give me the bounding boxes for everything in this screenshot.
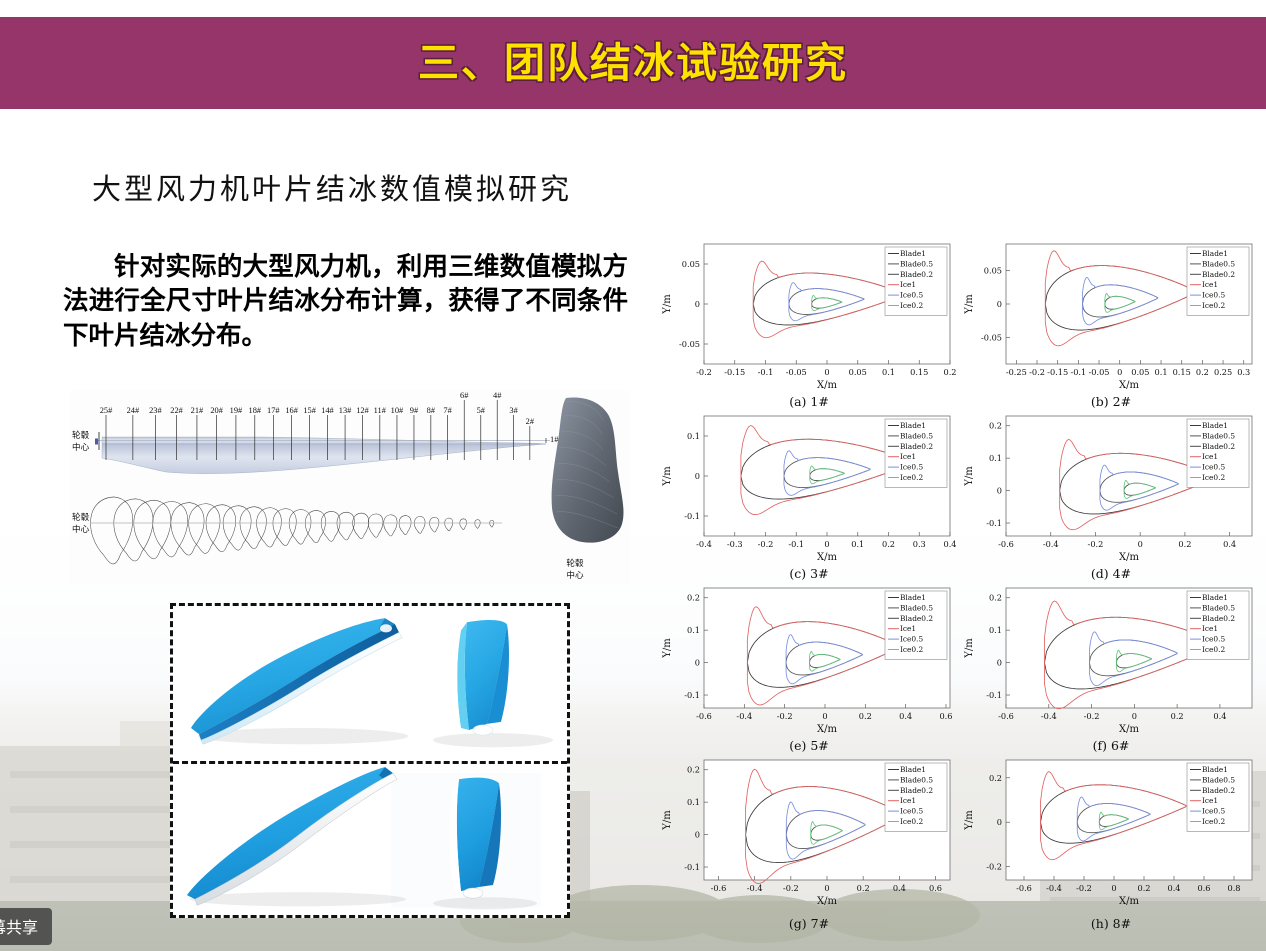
station-label: 19# <box>230 406 243 415</box>
x-tick-label: 0.6 <box>1197 883 1210 893</box>
chart-caption-h: (h) 8# <box>960 916 1262 931</box>
x-tick-label: 0 <box>822 711 827 721</box>
hub-label-mid-line2: 中心 <box>72 523 90 535</box>
airfoil-section <box>490 520 494 527</box>
y-axis-label: Y/m <box>964 466 975 487</box>
y-tick-label: 0 <box>997 486 1002 496</box>
x-tick-label: 0.6 <box>939 711 952 721</box>
station-label: 17# <box>267 406 280 415</box>
y-axis-label: Y/m <box>964 294 975 315</box>
y-axis-label: Y/m <box>662 810 673 831</box>
airfoil-section <box>353 513 369 539</box>
x-tick-label: 0.2 <box>859 711 872 721</box>
x-axis-label: X/m <box>1119 896 1139 907</box>
x-tick-label: 0.05 <box>849 367 867 377</box>
x-tick-label: -0.4 <box>736 711 752 721</box>
x-tick-label: 0.4 <box>893 883 906 893</box>
chart-f: -0.6-0.4-0.200.20.4-0.100.10.2X/mY/mBlad… <box>960 582 1262 754</box>
legend-label: Blade1 <box>900 249 926 258</box>
x-tick-label: -0.15 <box>724 367 745 377</box>
legend-label: Blade0.2 <box>900 614 933 623</box>
legend-label: Blade0.5 <box>900 431 933 440</box>
legend-label: Ice0.2 <box>1202 817 1225 826</box>
legend-label: Blade1 <box>1202 421 1228 430</box>
airfoil-section <box>445 518 453 531</box>
hub-label-right-line1: 轮毂 <box>566 557 584 569</box>
x-tick-label: -0.3 <box>727 539 743 549</box>
legend-label: Blade1 <box>900 765 926 774</box>
station-label: 18# <box>249 406 262 415</box>
chart-caption-g: (g) 7# <box>658 916 960 931</box>
x-tick-label: -0.2 <box>1084 711 1100 721</box>
hub-label-top-line1: 轮毂 <box>72 429 90 441</box>
legend-label: Ice1 <box>1202 796 1218 805</box>
station-label: 12# <box>356 406 369 415</box>
legend-label: Blade1 <box>900 593 926 602</box>
legend-label: Ice0.2 <box>900 817 923 826</box>
x-axis-label: X/m <box>1119 552 1139 563</box>
x-tick-label: -0.6 <box>998 539 1014 549</box>
x-tick-label: 0.6 <box>929 883 942 893</box>
x-tick-label: 0.8 <box>1227 883 1240 893</box>
x-tick-label: 0.15 <box>1173 367 1191 377</box>
legend-label: Ice0.2 <box>1202 473 1225 482</box>
legend-label: Ice1 <box>900 796 916 805</box>
chart-svg-b: -0.25-0.2-0.15-0.1-0.0500.050.10.150.20.… <box>960 238 1262 410</box>
legend-label: Blade0.2 <box>1202 786 1235 795</box>
x-tick-label: -0.2 <box>758 539 774 549</box>
y-tick-label: -0.1 <box>684 511 700 521</box>
x-tick-label: -0.05 <box>1089 367 1110 377</box>
slide-root: 三、团队结冰试验研究 大型风力机叶片结冰数值模拟研究 针对实际的大型风力机，利用… <box>0 0 1266 951</box>
y-axis-label: Y/m <box>662 294 673 315</box>
y-tick-label: 0.1 <box>989 453 1002 463</box>
legend-label: Ice0.2 <box>1202 645 1225 654</box>
x-tick-label: -0.6 <box>696 711 712 721</box>
chart-h: -0.6-0.4-0.200.20.40.60.8-0.200.2X/mY/mB… <box>960 754 1262 932</box>
y-tick-label: 0 <box>695 658 700 668</box>
x-tick-label: 0 <box>1132 711 1137 721</box>
legend-label: Ice1 <box>1202 280 1218 289</box>
chart-b: -0.25-0.2-0.15-0.1-0.0500.050.10.150.20.… <box>960 238 1262 410</box>
x-tick-label: -0.6 <box>998 711 1014 721</box>
y-tick-label: 0.05 <box>984 266 1002 276</box>
x-tick-label: -0.2 <box>1076 883 1092 893</box>
x-axis-label: X/m <box>817 896 837 907</box>
y-tick-label: 0.2 <box>687 593 700 603</box>
legend-label: Blade0.5 <box>1202 603 1235 612</box>
x-tick-label: -0.6 <box>1016 883 1032 893</box>
station-label: 24# <box>127 406 140 415</box>
legend-label: Blade0.2 <box>900 270 933 279</box>
x-tick-label: -0.15 <box>1047 367 1068 377</box>
y-axis-label: Y/m <box>964 810 975 831</box>
x-tick-label: 0.4 <box>1167 883 1180 893</box>
airfoil-section <box>91 497 133 564</box>
x-tick-label: 0.2 <box>1178 539 1191 549</box>
blade-render-top <box>173 606 567 761</box>
legend-label: Blade0.2 <box>900 786 933 795</box>
legend-label: Blade0.2 <box>1202 270 1235 279</box>
legend-label: Ice1 <box>900 452 916 461</box>
blade-station-diagram: 轮毂 中心 25#24#23#22#21#20#19#18#17#16#15#1… <box>70 390 630 585</box>
chart-svg-h: -0.6-0.4-0.200.20.40.60.8-0.200.2X/mY/mB… <box>960 754 1262 932</box>
chart-svg-f: -0.6-0.4-0.200.20.4-0.100.10.2X/mY/mBlad… <box>960 582 1262 754</box>
x-tick-label: -0.2 <box>696 367 712 377</box>
station-label: 22# <box>170 406 183 415</box>
x-tick-label: -0.25 <box>1006 367 1027 377</box>
airfoil-section <box>257 508 282 547</box>
x-tick-label: 0 <box>824 367 829 377</box>
airfoil-section <box>114 499 153 561</box>
blade-ice-render-panel <box>170 603 570 918</box>
station-label: 6# <box>460 391 469 400</box>
legend-label: Ice0.2 <box>900 645 923 654</box>
y-tick-label: 0.2 <box>687 765 700 775</box>
chart-caption-f: (f) 6# <box>960 738 1262 753</box>
x-tick-label: -0.4 <box>747 883 763 893</box>
x-tick-label: 0.4 <box>1223 539 1236 549</box>
station-label: 7# <box>443 406 452 415</box>
station-label: 3# <box>509 406 518 415</box>
station-label: 14# <box>321 406 334 415</box>
station-label: 10# <box>391 406 404 415</box>
legend-label: Ice0.5 <box>900 807 923 816</box>
station-label: 8# <box>427 406 436 415</box>
station-label: 2# <box>526 417 535 426</box>
station-label: 9# <box>410 406 419 415</box>
chart-c: -0.4-0.3-0.2-0.100.10.20.30.4-0.100.1X/m… <box>658 410 960 582</box>
x-tick-label: 0.1 <box>851 539 864 549</box>
hub-3d-render: 轮毂 中心 <box>552 398 624 581</box>
airfoil-section <box>414 516 425 533</box>
station-label: 13# <box>339 406 352 415</box>
legend-label: Blade1 <box>1202 593 1228 602</box>
x-tick-label: 0 <box>824 539 829 549</box>
x-tick-label: -0.1 <box>758 367 774 377</box>
y-tick-label: 0.2 <box>989 593 1002 603</box>
airfoil-section <box>430 517 439 532</box>
station-label: 16# <box>285 406 298 415</box>
x-tick-label: 0.25 <box>1214 367 1232 377</box>
airfoil-section <box>305 510 325 542</box>
x-tick-label: 0.2 <box>1137 883 1150 893</box>
blade-diagram-svg: 轮毂 中心 25#24#23#22#21#20#19#18#17#16#15#1… <box>70 390 630 585</box>
chart-d: -0.6-0.4-0.200.20.4-0.100.10.2X/mY/mBlad… <box>960 410 1262 582</box>
x-tick-label: -0.4 <box>1041 711 1057 721</box>
x-tick-label: 0.4 <box>943 539 956 549</box>
x-tick-label: 0.2 <box>857 883 870 893</box>
airfoil-section <box>206 505 236 552</box>
legend-label: Blade0.2 <box>900 442 933 451</box>
y-tick-label: 0.1 <box>687 797 700 807</box>
blade-render-bottom-svg <box>173 761 567 916</box>
y-tick-label: 0 <box>997 658 1002 668</box>
legend-label: Blade0.5 <box>1202 259 1235 268</box>
hub-label-top-line2: 中心 <box>72 441 90 453</box>
legend-label: Ice0.5 <box>900 463 923 472</box>
x-tick-label: 0.2 <box>943 367 956 377</box>
legend-label: Blade1 <box>1202 249 1228 258</box>
blade-render-bottom <box>173 761 567 916</box>
station-label: 4# <box>493 391 502 400</box>
x-tick-label: 0.1 <box>1155 367 1168 377</box>
hub-label-right-line2: 中心 <box>566 569 584 581</box>
x-tick-label: 0.2 <box>1171 711 1184 721</box>
x-axis-label: X/m <box>1119 724 1139 735</box>
legend-label: Blade0.5 <box>1202 431 1235 440</box>
y-tick-label: -0.1 <box>684 862 700 872</box>
legend-label: Ice1 <box>900 624 916 633</box>
airfoil-section <box>368 514 383 537</box>
station-label: 15# <box>303 406 316 415</box>
chart-svg-e: -0.6-0.4-0.200.20.40.6-0.100.10.2X/mY/mB… <box>658 582 960 754</box>
legend-label: Ice1 <box>900 280 916 289</box>
chart-svg-d: -0.6-0.4-0.200.20.4-0.100.10.2X/mY/mBlad… <box>960 410 1262 582</box>
legend-label: Ice0.2 <box>1202 301 1225 310</box>
y-tick-label: 0.2 <box>989 773 1002 783</box>
chart-g: -0.6-0.4-0.200.20.40.6-0.100.10.2X/mY/mB… <box>658 754 960 932</box>
x-tick-label: -0.6 <box>711 883 727 893</box>
x-tick-label: 0 <box>1111 883 1116 893</box>
legend-label: Blade0.2 <box>1202 442 1235 451</box>
chart-e: -0.6-0.4-0.200.20.40.6-0.100.10.2X/mY/mB… <box>658 582 960 754</box>
x-tick-label: 0 <box>824 883 829 893</box>
chart-caption-a: (a) 1# <box>658 394 960 409</box>
station-label: 11# <box>374 406 387 415</box>
legend-label: Blade0.2 <box>1202 614 1235 623</box>
legend-label: Blade0.5 <box>900 259 933 268</box>
station-label: 23# <box>149 406 162 415</box>
legend-label: Ice1 <box>1202 624 1218 633</box>
airfoil-stack <box>91 497 494 564</box>
x-tick-label: -0.2 <box>777 711 793 721</box>
airfoil-section <box>273 509 296 546</box>
y-tick-label: -0.05 <box>981 332 1002 342</box>
airfoil-section <box>384 515 397 536</box>
x-tick-label: -0.2 <box>1029 367 1045 377</box>
y-axis-label: Y/m <box>662 466 673 487</box>
x-tick-label: 0.2 <box>1196 367 1209 377</box>
x-tick-label: -0.05 <box>786 367 807 377</box>
y-axis-label: Y/m <box>662 638 673 659</box>
x-axis-label: X/m <box>1119 380 1139 391</box>
x-tick-label: 0.1 <box>882 367 895 377</box>
y-tick-label: 0 <box>695 471 700 481</box>
x-tick-label: 0 <box>1138 539 1143 549</box>
legend-label: Ice0.2 <box>900 301 923 310</box>
body-paragraph: 针对实际的大型风力机，利用三维数值模拟方法进行全尺寸叶片结冰分布计算，获得了不同… <box>63 250 628 353</box>
x-axis-label: X/m <box>817 552 837 563</box>
ice-accretion-chart-grid: -0.2-0.15-0.1-0.0500.050.10.150.2-0.0500… <box>658 238 1262 938</box>
x-axis-label: X/m <box>817 380 837 391</box>
legend-label: Blade0.5 <box>900 603 933 612</box>
legend-label: Ice0.5 <box>1202 463 1225 472</box>
station-label: 5# <box>477 406 486 415</box>
legend-label: Ice0.5 <box>1202 291 1225 300</box>
station-label: 20# <box>210 406 223 415</box>
y-tick-label: -0.05 <box>679 339 700 349</box>
x-tick-label: -0.4 <box>1043 539 1059 549</box>
station-label: 21# <box>191 406 204 415</box>
x-tick-label: 0.2 <box>882 539 895 549</box>
y-tick-label: 0.05 <box>682 259 700 269</box>
station-label: 25# <box>100 406 113 415</box>
chart-caption-e: (e) 5# <box>658 738 960 753</box>
x-tick-label: -0.2 <box>1088 539 1104 549</box>
x-tick-label: 0.4 <box>899 711 912 721</box>
y-tick-label: 0.1 <box>687 625 700 635</box>
legend-label: Ice1 <box>1202 452 1218 461</box>
airfoil-section <box>475 520 480 529</box>
airfoil-section <box>171 503 204 556</box>
legend-label: Blade1 <box>1202 765 1228 774</box>
chart-svg-g: -0.6-0.4-0.200.20.40.6-0.100.10.2X/mY/mB… <box>658 754 960 932</box>
y-tick-label: 0.1 <box>687 431 700 441</box>
y-tick-label: -0.1 <box>684 690 700 700</box>
x-tick-label: 0.15 <box>910 367 928 377</box>
chart-svg-a: -0.2-0.15-0.1-0.0500.050.10.150.2-0.0500… <box>658 238 960 410</box>
legend-label: Blade1 <box>900 421 926 430</box>
blade-render-top-svg <box>173 606 567 761</box>
legend-label: Ice0.5 <box>1202 807 1225 816</box>
x-tick-label: 0 <box>1117 367 1122 377</box>
section-subtitle: 大型风力机叶片结冰数值模拟研究 <box>92 166 572 208</box>
airfoil-section <box>223 506 251 550</box>
x-tick-label: 0.3 <box>913 539 926 549</box>
x-tick-label: 0.3 <box>1237 367 1250 377</box>
legend-label: Ice0.5 <box>900 291 923 300</box>
airfoil-section <box>460 519 467 530</box>
chart-svg-c: -0.4-0.3-0.2-0.100.10.20.30.4-0.100.1X/m… <box>658 410 960 582</box>
y-tick-label: 0 <box>695 830 700 840</box>
chart-a: -0.2-0.15-0.1-0.0500.050.10.150.2-0.0500… <box>658 238 960 410</box>
y-tick-label: 0 <box>997 299 1002 309</box>
legend-label: Ice0.2 <box>900 473 923 482</box>
y-tick-label: 0 <box>997 817 1002 827</box>
y-tick-label: -0.1 <box>986 518 1002 528</box>
y-tick-label: 0 <box>695 299 700 309</box>
x-tick-label: -0.4 <box>696 539 712 549</box>
screen-share-banner: 电的屏幕共享 <box>0 908 52 945</box>
x-tick-label: 0.05 <box>1131 367 1149 377</box>
y-tick-label: 0.2 <box>989 421 1002 431</box>
x-axis-label: X/m <box>817 724 837 735</box>
page-title: 三、团队结冰试验研究 <box>0 17 1266 109</box>
y-tick-label: 0.1 <box>989 625 1002 635</box>
chart-caption-d: (d) 4# <box>960 566 1262 581</box>
x-tick-label: -0.4 <box>1046 883 1062 893</box>
legend-label: Ice0.5 <box>900 635 923 644</box>
chart-caption-c: (c) 3# <box>658 566 960 581</box>
x-tick-label: -0.1 <box>788 539 804 549</box>
x-tick-label: 0.4 <box>1213 711 1226 721</box>
legend-label: Ice0.5 <box>1202 635 1225 644</box>
x-tick-label: -0.2 <box>783 883 799 893</box>
x-tick-label: -0.1 <box>1070 367 1086 377</box>
airfoil-section <box>399 516 411 535</box>
y-axis-label: Y/m <box>964 638 975 659</box>
chart-caption-b: (b) 2# <box>960 394 1262 409</box>
legend-label: Blade0.5 <box>900 775 933 784</box>
y-tick-label: -0.1 <box>986 690 1002 700</box>
legend-label: Blade0.5 <box>1202 775 1235 784</box>
y-tick-label: -0.2 <box>986 862 1002 872</box>
hub-label-mid-line1: 轮毂 <box>72 511 90 523</box>
